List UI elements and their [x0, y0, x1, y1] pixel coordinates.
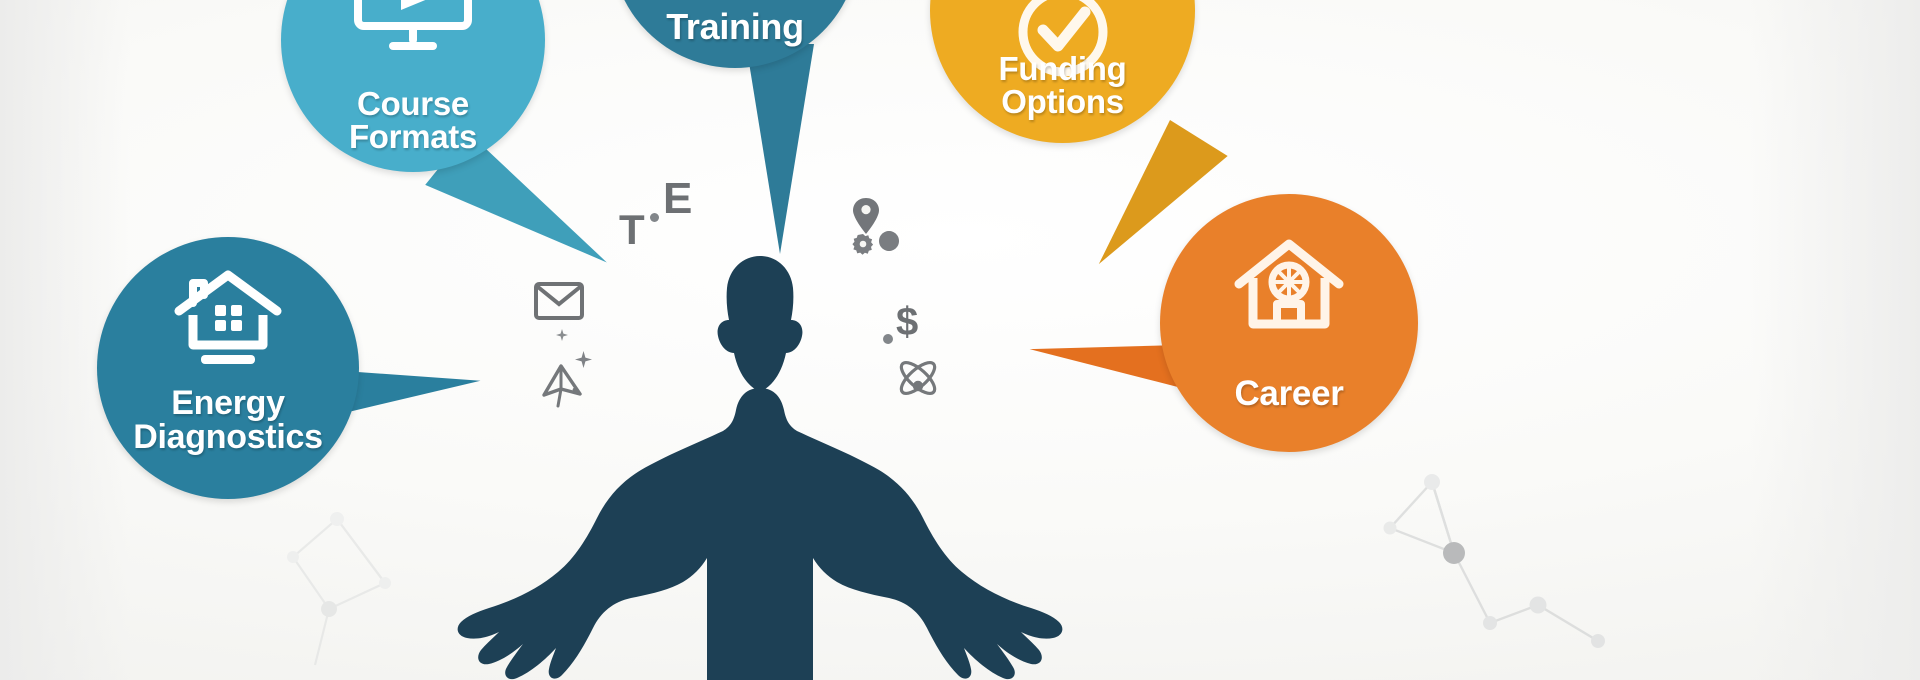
bubble-label-line1: Funding — [930, 52, 1195, 86]
bubble-label-line1: Career — [1160, 376, 1418, 412]
bubble-energy-diagnostics[interactable]: Energy Diagnostics — [97, 237, 359, 499]
letter-e-glyph: E — [663, 174, 692, 224]
bubble-label-line2: Options — [930, 85, 1195, 119]
bubble-label-line1: Energy — [97, 386, 359, 421]
bubble-career[interactable]: Career — [1160, 194, 1418, 452]
bubble-course-formats[interactable]: Course Formats — [281, 0, 545, 172]
background-edge-right — [1750, 0, 1920, 680]
house-round-window-icon — [1233, 236, 1345, 349]
blob-icon — [878, 230, 900, 252]
bubble-label-line2: Diagnostics — [97, 420, 359, 455]
bubble-label-course-formats: Course Formats — [281, 87, 545, 154]
bubble-label-line1: Training — [611, 9, 859, 46]
bubble-label-line1: Course — [281, 87, 545, 121]
dot-decoration — [650, 213, 659, 222]
monitor-play-icon — [353, 0, 473, 61]
bubble-label-training: Training — [611, 9, 859, 46]
infographic-canvas: T E — [0, 0, 1920, 680]
house-window-icon — [173, 267, 283, 374]
bubble-label-career: Career — [1160, 376, 1418, 412]
bubble-tail-training — [746, 44, 814, 254]
person-silhouette — [455, 250, 1065, 680]
network-nodes-icon — [275, 505, 435, 680]
bubble-label-energy-diagnostics: Energy Diagnostics — [97, 386, 359, 455]
letter-t-glyph: T — [619, 206, 645, 254]
network-nodes-icon — [1380, 455, 1680, 680]
bubble-label-line2: Formats — [281, 120, 545, 154]
bubble-label-funding-options: Funding Options — [930, 52, 1195, 119]
